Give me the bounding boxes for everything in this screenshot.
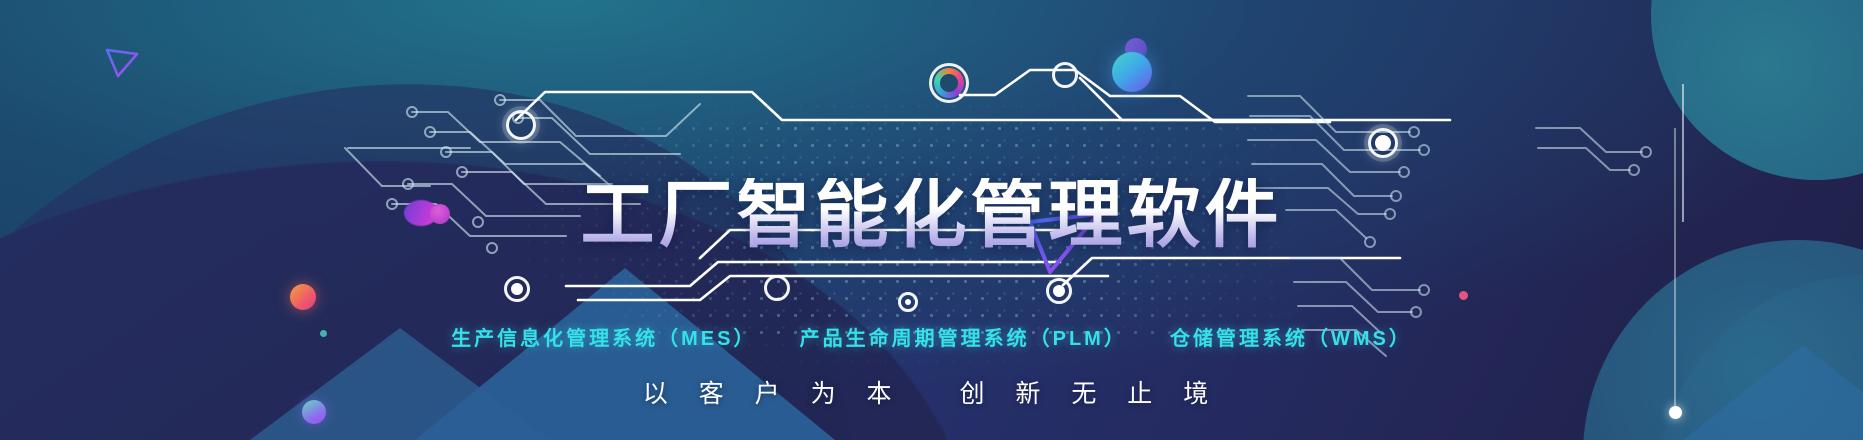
product-list: 生产信息化管理系统（MES） 产品生命周期管理系统（PLM） 仓储管理系统（WM… <box>0 322 1863 351</box>
tagline: 以 客 户 为 本 创 新 无 止 境 <box>0 374 1863 410</box>
product-item-mes: 生产信息化管理系统（MES） <box>451 328 756 350</box>
product-item-wms: 仓储管理系统（WMS） <box>1170 328 1412 350</box>
tagline-part-1: 以 客 户 为 本 <box>643 380 904 408</box>
page-title: 工厂智能化管理软件 <box>0 178 1863 252</box>
hero-banner: 工厂智能化管理软件 生产信息化管理系统（MES） 产品生命周期管理系统（PLM）… <box>0 0 1863 440</box>
banner-content: 工厂智能化管理软件 生产信息化管理系统（MES） 产品生命周期管理系统（PLM）… <box>0 0 1863 440</box>
tagline-part-2: 创 新 无 止 境 <box>959 380 1220 408</box>
product-item-plm: 产品生命周期管理系统（PLM） <box>800 328 1127 350</box>
